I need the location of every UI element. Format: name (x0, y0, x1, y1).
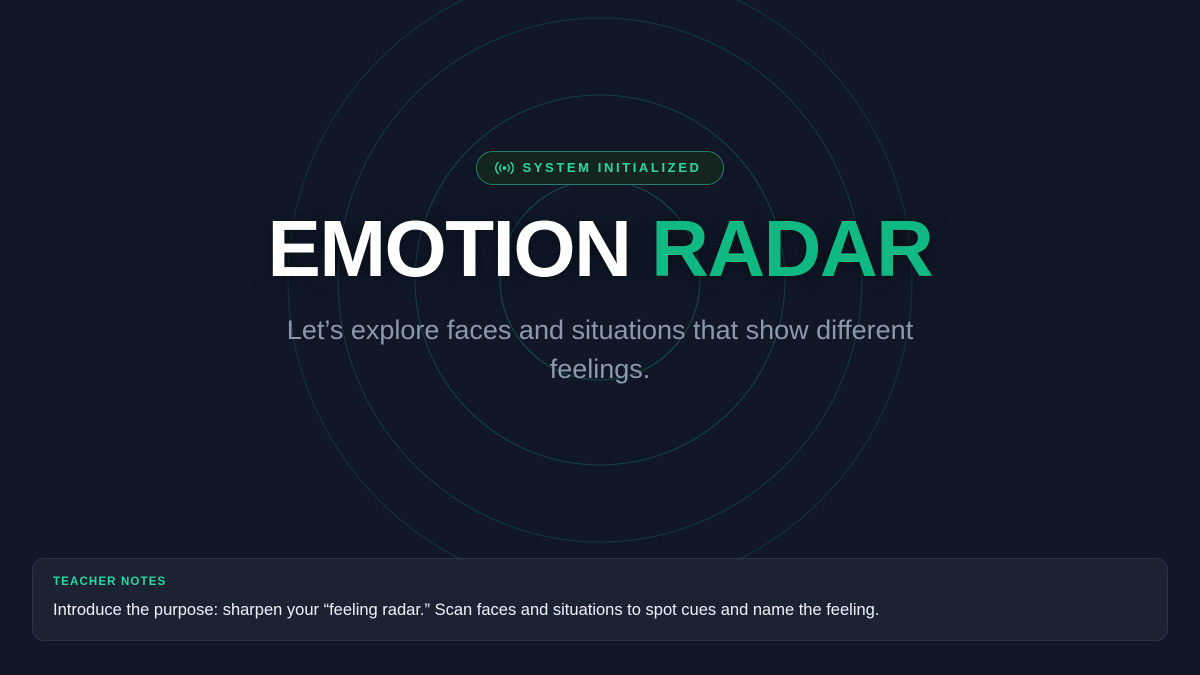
broadcast-icon (495, 161, 514, 175)
page-subtitle: Let’s explore faces and situations that … (280, 311, 920, 389)
teacher-notes-body: Introduce the purpose: sharpen your “fee… (53, 600, 1147, 621)
status-badge: SYSTEM INITIALIZED (476, 151, 725, 185)
page-title: EMOTION RADAR (268, 209, 933, 289)
status-badge-label: SYSTEM INITIALIZED (523, 161, 702, 174)
page-title-accent: RADAR (651, 204, 932, 293)
hero-content: SYSTEM INITIALIZED EMOTION RADAR Let’s e… (0, 0, 1200, 540)
slide-root: SYSTEM INITIALIZED EMOTION RADAR Let’s e… (0, 0, 1200, 675)
teacher-notes-panel: TEACHER NOTES Introduce the purpose: sha… (32, 558, 1168, 641)
page-title-primary: EMOTION (268, 204, 652, 293)
teacher-notes-label: TEACHER NOTES (53, 577, 1147, 589)
